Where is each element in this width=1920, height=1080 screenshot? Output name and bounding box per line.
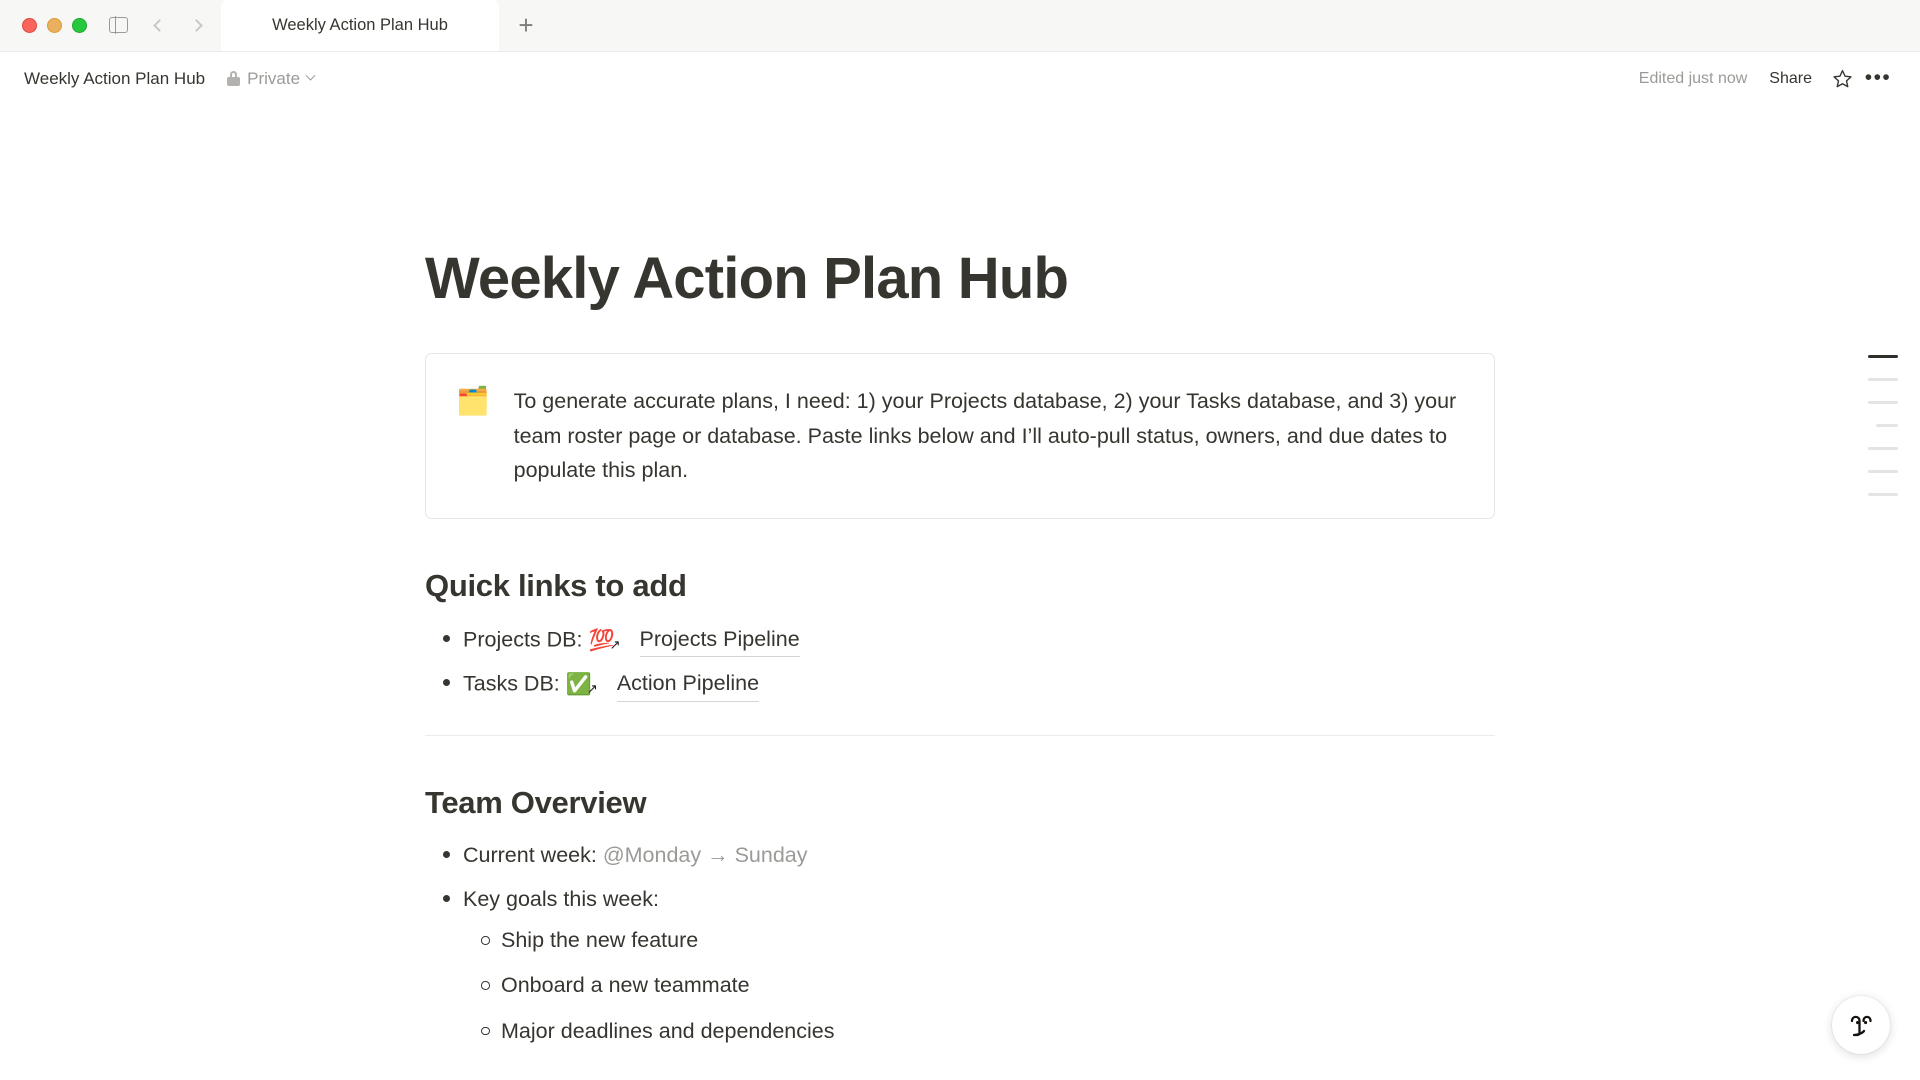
new-tab-button[interactable]: + <box>499 0 553 51</box>
callout-block[interactable]: 🗂️ To generate accurate plans, I need: 1… <box>425 353 1495 519</box>
list-item[interactable]: Current week: @Monday → Sunday <box>425 834 1495 877</box>
list-item[interactable]: Tasks DB: ✅↗ Action Pipeline <box>425 662 1495 706</box>
plus-icon: + <box>518 10 533 41</box>
page-link-label: Action Pipeline <box>617 667 759 701</box>
card-index-dividers-emoji: 🗂️ <box>456 384 490 488</box>
page-scroll-area[interactable]: Weekly Action Plan Hub 🗂️ To generate ac… <box>0 105 1920 1080</box>
key-goals-sublist: Ship the new feature Onboard a new teamm… <box>463 918 1495 1054</box>
horizontal-divider <box>425 735 1495 736</box>
page-link-action-pipeline[interactable]: ✅↗ Action Pipeline <box>566 667 759 701</box>
link-arrow-icon: ↗ <box>610 635 621 655</box>
page-title[interactable]: Weekly Action Plan Hub <box>425 247 1495 311</box>
header-actions: Edited just now Share ••• <box>1629 62 1896 96</box>
window-traffic-lights <box>0 0 101 51</box>
close-window-button[interactable] <box>22 18 37 33</box>
link-arrow-icon: ↗ <box>587 679 598 699</box>
favorite-button[interactable] <box>1824 62 1860 96</box>
list-item[interactable]: Onboard a new teammate <box>463 963 1495 1008</box>
minimize-window-button[interactable] <box>47 18 62 33</box>
navigation-controls <box>101 0 221 51</box>
outline-line[interactable] <box>1868 447 1898 450</box>
tab-weekly-action-plan-hub[interactable]: Weekly Action Plan Hub <box>221 0 499 51</box>
outline-line[interactable] <box>1876 424 1898 427</box>
edited-status: Edited just now <box>1629 64 1758 94</box>
back-button[interactable] <box>141 8 175 42</box>
maximize-window-button[interactable] <box>72 18 87 33</box>
list-item[interactable]: Projects DB: 💯↗ Projects Pipeline <box>425 618 1495 662</box>
outline-line[interactable] <box>1868 470 1898 473</box>
tab-strip: Weekly Action Plan Hub + <box>221 0 553 51</box>
outline-line[interactable] <box>1868 355 1898 358</box>
quick-link-prefix: Tasks DB: <box>463 672 566 696</box>
notion-ai-button[interactable] <box>1832 996 1890 1054</box>
star-icon <box>1832 68 1853 89</box>
outline-line[interactable] <box>1868 493 1898 496</box>
lock-icon <box>227 71 240 86</box>
table-of-contents-minimap[interactable] <box>1868 355 1898 496</box>
key-goals-label: Key goals this week: <box>463 887 659 911</box>
quick-links-list: Projects DB: 💯↗ Projects Pipeline Tasks … <box>425 618 1495 707</box>
page-header-bar: Weekly Action Plan Hub Private Edited ju… <box>0 52 1920 105</box>
breadcrumb[interactable]: Weekly Action Plan Hub <box>24 69 205 89</box>
privacy-selector[interactable]: Private <box>227 69 314 89</box>
current-week-date-mention[interactable]: @Monday → Sunday <box>603 843 808 867</box>
quick-link-prefix: Projects DB: <box>463 628 588 652</box>
team-overview-list: Current week: @Monday → Sunday Key goals… <box>425 834 1495 1059</box>
sidebar-toggle-button[interactable] <box>101 8 135 42</box>
notion-app-window: Weekly Action Plan Hub + Weekly Action P… <box>0 0 1920 1080</box>
list-item[interactable]: Key goals this week: Ship the new featur… <box>425 878 1495 1059</box>
callout-text: To generate accurate plans, I need: 1) y… <box>514 384 1464 488</box>
current-week-label: Current week: <box>463 843 603 867</box>
outline-line[interactable] <box>1868 401 1898 404</box>
chevron-right-icon <box>190 19 203 32</box>
notion-ai-face-icon <box>1845 1009 1877 1041</box>
page-link-projects-pipeline[interactable]: 💯↗ Projects Pipeline <box>588 623 799 657</box>
list-item[interactable]: Major deadlines and dependencies <box>463 1009 1495 1054</box>
share-button[interactable]: Share <box>1757 64 1824 94</box>
sidebar-toggle-icon <box>109 17 128 33</box>
chevron-left-icon <box>153 19 166 32</box>
heading-team-overview[interactable]: Team Overview <box>425 784 1495 823</box>
tab-label: Weekly Action Plan Hub <box>272 16 448 35</box>
privacy-label: Private <box>247 69 300 89</box>
page-content: Weekly Action Plan Hub 🗂️ To generate ac… <box>425 105 1495 1059</box>
outline-line[interactable] <box>1868 378 1898 381</box>
more-options-button[interactable]: ••• <box>1860 62 1896 96</box>
list-item[interactable]: Ship the new feature <box>463 918 1495 963</box>
forward-button[interactable] <box>181 8 215 42</box>
tab-bar: Weekly Action Plan Hub + <box>0 0 1920 52</box>
heading-quick-links[interactable]: Quick links to add <box>425 567 1495 606</box>
more-options-icon: ••• <box>1865 72 1892 85</box>
chevron-down-icon <box>306 71 316 81</box>
page-link-label: Projects Pipeline <box>640 623 800 657</box>
